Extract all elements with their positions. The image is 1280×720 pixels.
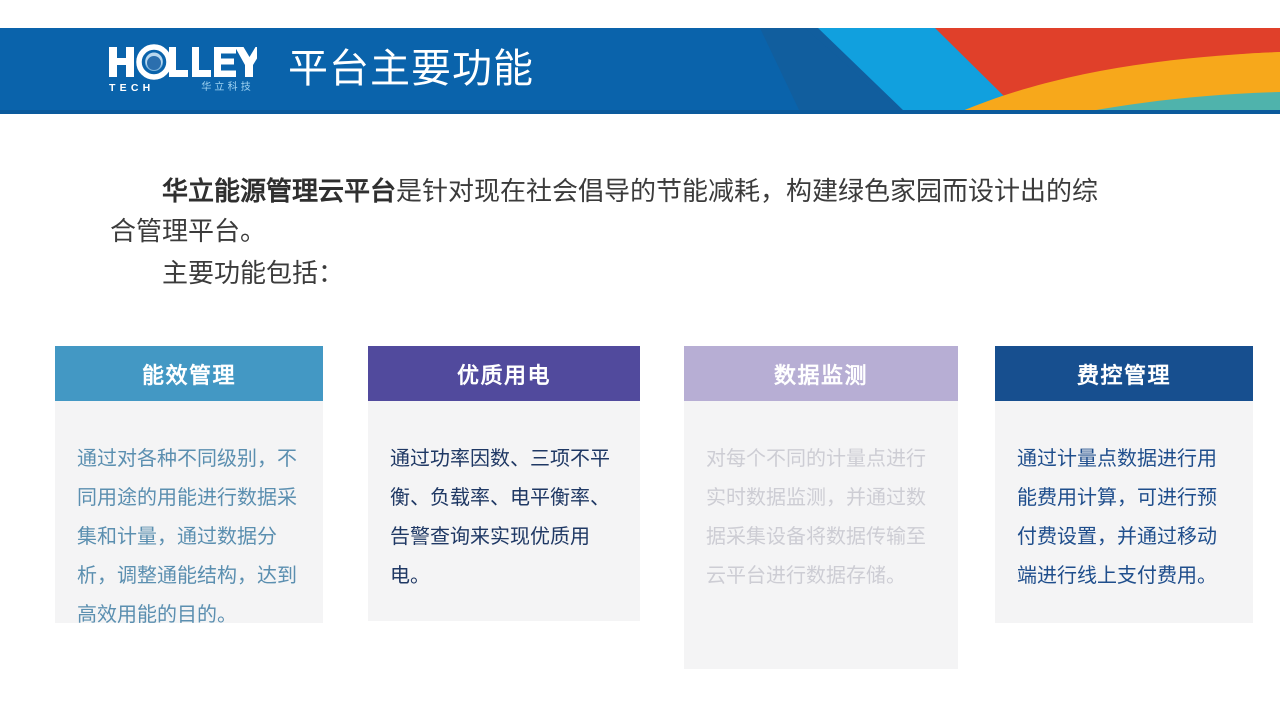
- intro-line-2: 主要功能包括：: [110, 254, 1120, 294]
- card-body-fee-control: 通过计量点数据进行用能费用计算，可进行预付费设置，并通过移动端进行线上支付费用。: [995, 401, 1253, 623]
- card-body-energy-efficiency: 通过对各种不同级别，不同用途的用能进行数据采集和计量，通过数据分析，调整通能结构…: [55, 401, 323, 623]
- feature-card-quality-power[interactable]: 优质用电 通过功率因数、三项不平衡、负载率、电平衡率、告警查询来实现优质用电。: [368, 346, 640, 621]
- card-text-quality-power: 通过功率因数、三项不平衡、负载率、电平衡率、告警查询来实现优质用电。: [390, 439, 618, 595]
- feature-card-data-monitoring[interactable]: 数据监测 对每个不同的计量点进行实时数据监测，并通过数据采集设备将数据传输至云平…: [684, 346, 958, 669]
- feature-card-fee-control[interactable]: 费控管理 通过计量点数据进行用能费用计算，可进行预付费设置，并通过移动端进行线上…: [995, 346, 1253, 623]
- logo-tech-text: TECH: [109, 83, 154, 94]
- intro-paragraph: 华立能源管理云平台是针对现在社会倡导的节能减耗，构建绿色家园而设计出的综合管理平…: [110, 172, 1120, 294]
- page-title: 平台主要功能: [288, 46, 534, 92]
- logo-subtitle-row: TECH 华立科技: [107, 83, 255, 94]
- feature-card-energy-efficiency[interactable]: 能效管理 通过对各种不同级别，不同用途的用能进行数据采集和计量，通过数据分析，调…: [55, 346, 323, 623]
- card-title-fee-control: 费控管理: [995, 346, 1253, 401]
- card-text-data-monitoring: 对每个不同的计量点进行实时数据监测，并通过数据采集设备将数据传输至云平台进行数据…: [706, 439, 936, 595]
- feature-card-row: 能效管理 通过对各种不同级别，不同用途的用能进行数据采集和计量，通过数据分析，调…: [0, 346, 1280, 686]
- card-body-quality-power: 通过功率因数、三项不平衡、负载率、电平衡率、告警查询来实现优质用电。: [368, 401, 640, 621]
- card-title-quality-power: 优质用电: [368, 346, 640, 401]
- intro-emphasis: 华立能源管理云平台: [162, 177, 396, 207]
- holley-logo: TECH 华立科技: [107, 44, 257, 98]
- card-text-fee-control: 通过计量点数据进行用能费用计算，可进行预付费设置，并通过移动端进行线上支付费用。: [1017, 439, 1231, 595]
- holley-wordmark-icon: [107, 44, 257, 80]
- header-underline: [0, 110, 1280, 114]
- card-title-energy-efficiency: 能效管理: [55, 346, 323, 401]
- card-body-data-monitoring: 对每个不同的计量点进行实时数据监测，并通过数据采集设备将数据传输至云平台进行数据…: [684, 401, 958, 669]
- card-text-energy-efficiency: 通过对各种不同级别，不同用途的用能进行数据采集和计量，通过数据分析，调整通能结构…: [77, 439, 301, 634]
- intro-line-1: 华立能源管理云平台是针对现在社会倡导的节能减耗，构建绿色家园而设计出的综合管理平…: [110, 172, 1120, 252]
- card-title-data-monitoring: 数据监测: [684, 346, 958, 401]
- logo-chinese-text: 华立科技: [201, 83, 255, 93]
